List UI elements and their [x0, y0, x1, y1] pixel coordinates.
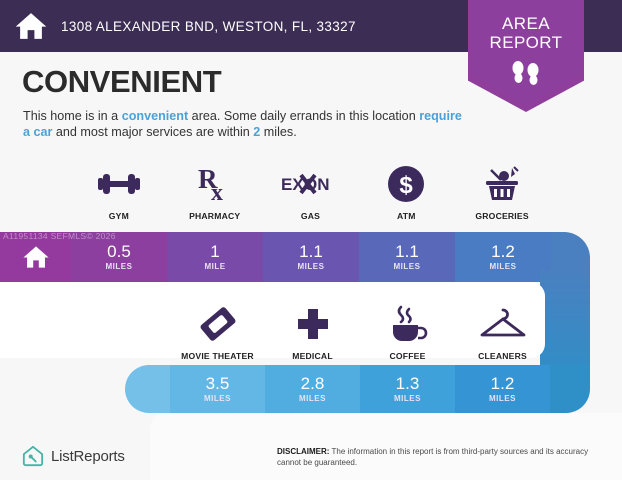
distance-value: 1.1: [299, 243, 323, 260]
distance-unit: MILE: [204, 262, 225, 271]
summary-part-4: miles.: [260, 125, 296, 139]
distance-value: 2.8: [301, 375, 325, 392]
distance-unit: MILES: [299, 394, 326, 403]
distance-value: 1.2: [491, 375, 515, 392]
distance-unit: MILES: [489, 394, 516, 403]
amenity-label: MOVIE THEATER: [181, 351, 254, 361]
svg-text:$: $: [400, 172, 414, 199]
amenity-atm: $ ATM: [358, 163, 454, 221]
svg-text:x: x: [211, 180, 223, 204]
amenity-gym: GYM: [71, 163, 167, 221]
disclaimer: DISCLAIMER: The information in this repo…: [277, 447, 595, 468]
amenity-label: COFFEE: [389, 351, 425, 361]
grocery-basket-icon: [481, 163, 523, 205]
clothes-hanger-icon: [479, 303, 527, 345]
amenity-label: GROCERIES: [475, 211, 528, 221]
bar-tail-bottom: [550, 365, 590, 413]
distance-segment-atm: 1.1 MILES: [359, 232, 455, 282]
distance-value: 1: [210, 243, 219, 260]
summary-highlight-1: convenient: [122, 109, 188, 123]
bar-cap-bottom: [125, 365, 170, 413]
amenity-groceries: GROCERIES: [454, 163, 550, 221]
area-report-page: 1308 ALEXANDER BND, WESTON, FL, 33327 AR…: [0, 0, 622, 480]
bottom-distance-bar: 3.5 MILES 2.8 MILES 1.3 MILES 1.2 MILES: [125, 365, 590, 413]
top-icon-row: GYM Rx PHARMACY EXON GAS $ ATM GROCERIES: [71, 163, 550, 221]
amenity-cleaners: CLEANERS: [455, 303, 550, 361]
distance-segment-groceries: 1.2 MILES: [455, 232, 551, 282]
summary-part-3: and most major services are within: [52, 125, 253, 139]
amenity-label: CLEANERS: [478, 351, 527, 361]
amenity-label: PHARMACY: [189, 211, 240, 221]
bottom-icon-row: MOVIE THEATER MEDICAL COFFEE CLEANERS: [170, 303, 550, 361]
distance-unit: MILES: [394, 262, 421, 271]
distance-segment-movie-theater: 3.5 MILES: [170, 365, 265, 413]
listreports-tag-icon: [22, 445, 44, 467]
amenity-pharmacy: Rx PHARMACY: [167, 163, 263, 221]
amenity-gas: EXON GAS: [263, 163, 359, 221]
amenity-label: GYM: [109, 211, 129, 221]
medical-cross-icon: [296, 303, 330, 345]
page-title: CONVENIENT: [22, 64, 221, 100]
mls-watermark: A11951134 SEFMLS© 2026: [3, 231, 116, 241]
distance-segment-gas: 1.1 MILES: [263, 232, 359, 282]
coffee-cup-icon: [388, 303, 428, 345]
prescription-rx-icon: Rx: [198, 163, 232, 205]
badge-label: AREA REPORT: [468, 0, 584, 52]
distance-unit: MILES: [394, 394, 421, 403]
distance-unit: MILES: [106, 262, 133, 271]
exxon-gas-icon: EXON: [281, 163, 339, 205]
listreports-logo[interactable]: ListReports: [22, 445, 125, 467]
dollar-circle-icon: $: [387, 163, 425, 205]
distance-unit: MILES: [298, 262, 325, 271]
disclaimer-label: DISCLAIMER:: [277, 447, 329, 456]
badge-line-2: REPORT: [468, 33, 584, 52]
dumbbell-icon: [97, 163, 141, 205]
amenity-label: MEDICAL: [292, 351, 333, 361]
distance-value: 1.1: [395, 243, 419, 260]
distance-segment-cleaners: 1.2 MILES: [455, 365, 550, 413]
distance-value: 3.5: [206, 375, 230, 392]
distance-value: 0.5: [107, 243, 131, 260]
distance-segment-pharmacy: 1 MILE: [167, 232, 263, 282]
badge-line-1: AREA: [468, 14, 584, 33]
distance-segment-medical: 2.8 MILES: [265, 365, 360, 413]
footprints-icon: [506, 60, 546, 86]
summary-text: This home is in a convenient area. Some …: [23, 109, 463, 140]
amenity-label: GAS: [301, 211, 320, 221]
amenity-coffee: COFFEE: [360, 303, 455, 361]
amenity-movie-theater: MOVIE THEATER: [170, 303, 265, 361]
amenity-label: ATM: [397, 211, 416, 221]
header-address: 1308 ALEXANDER BND, WESTON, FL, 33327: [61, 19, 356, 34]
distance-unit: MILES: [490, 262, 517, 271]
summary-part-1: This home is in a: [23, 109, 122, 123]
home-icon: [14, 9, 48, 43]
distance-value: 1.2: [491, 243, 515, 260]
area-report-badge: AREA REPORT: [468, 0, 584, 112]
home-icon: [21, 243, 51, 271]
movie-ticket-icon: [198, 303, 238, 345]
distance-segment-coffee: 1.3 MILES: [360, 365, 455, 413]
listreports-logo-text: ListReports: [51, 448, 125, 465]
summary-part-2: area. Some daily errands in this locatio…: [188, 109, 419, 123]
distance-value: 1.3: [396, 375, 420, 392]
distance-unit: MILES: [204, 394, 231, 403]
amenity-medical: MEDICAL: [265, 303, 360, 361]
